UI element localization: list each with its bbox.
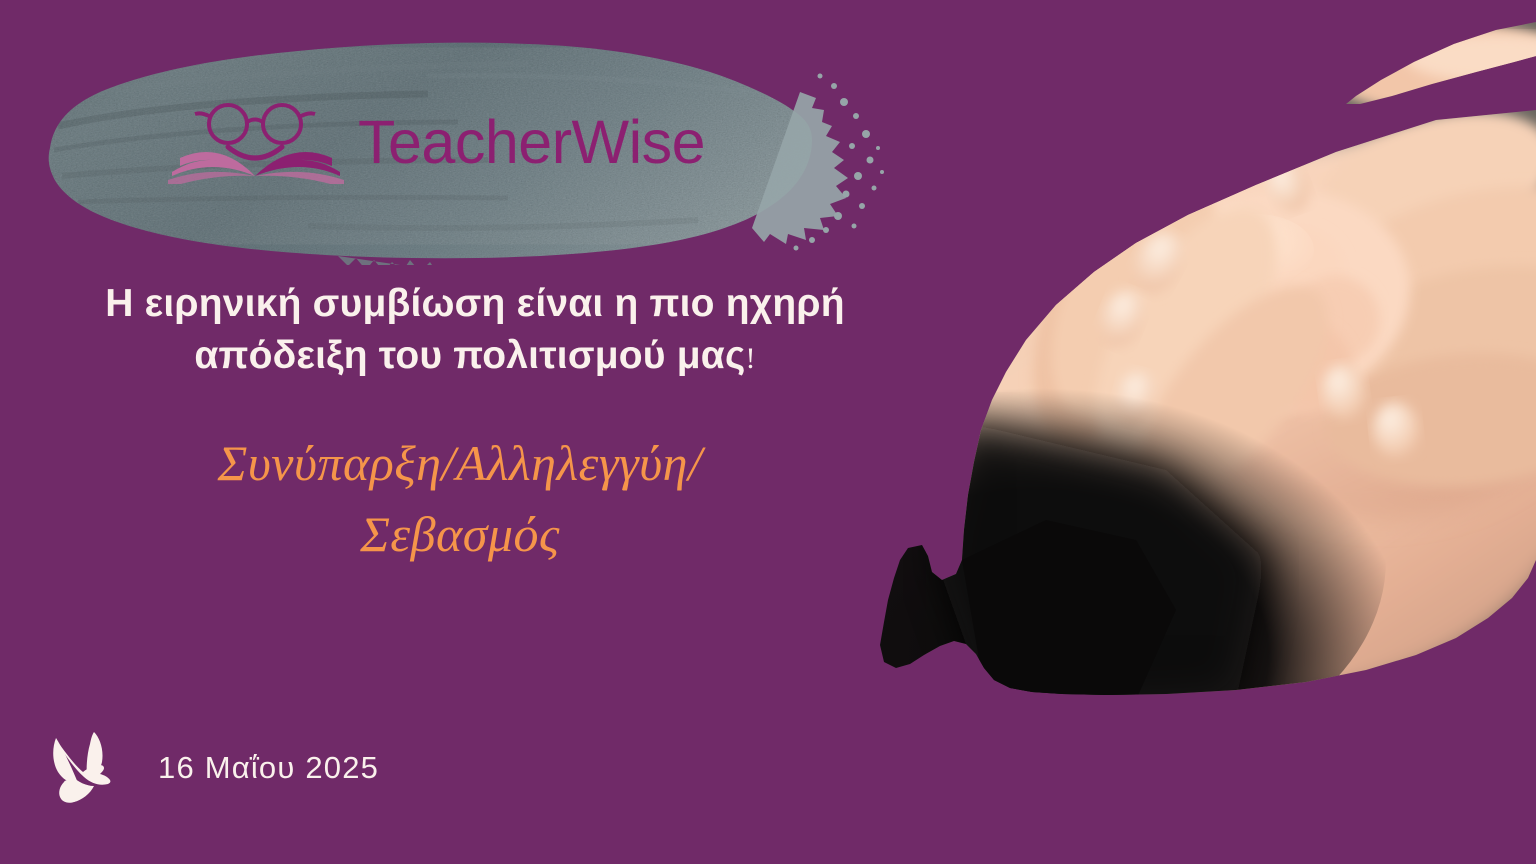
brand-logo[interactable]: TeacherWise xyxy=(168,100,705,184)
headline-line-2-text: απόδειξη του πολιτισμού μας xyxy=(194,334,745,377)
subtitle-line-1: Συνύπαρξη/Αλληλεγγύη/ xyxy=(60,428,860,499)
footer: 16 Μαΐου 2025 xyxy=(42,728,379,808)
book-with-glasses-icon xyxy=(168,100,344,184)
headline-line-1: Η ειρηνική συμβίωση είναι η πιο ηχηρή xyxy=(60,278,890,330)
subtitle-line-2: Σεβασμός xyxy=(60,499,860,570)
dove-icon xyxy=(42,728,120,808)
event-date: 16 Μαΐου 2025 xyxy=(158,750,379,786)
hands-photo xyxy=(836,0,1536,790)
poster-canvas: TeacherWise Η ειρηνική συμβίωση είναι η … xyxy=(0,0,1536,864)
subtitle: Συνύπαρξη/Αλληλεγγύη/ Σεβασμός xyxy=(60,428,860,570)
headline-line-2: απόδειξη του πολιτισμού μας! xyxy=(60,330,890,382)
headline-exclamation: ! xyxy=(745,342,755,375)
headline: Η ειρηνική συμβίωση είναι η πιο ηχηρή απ… xyxy=(60,278,890,382)
brand-wordmark: TeacherWise xyxy=(358,112,705,173)
